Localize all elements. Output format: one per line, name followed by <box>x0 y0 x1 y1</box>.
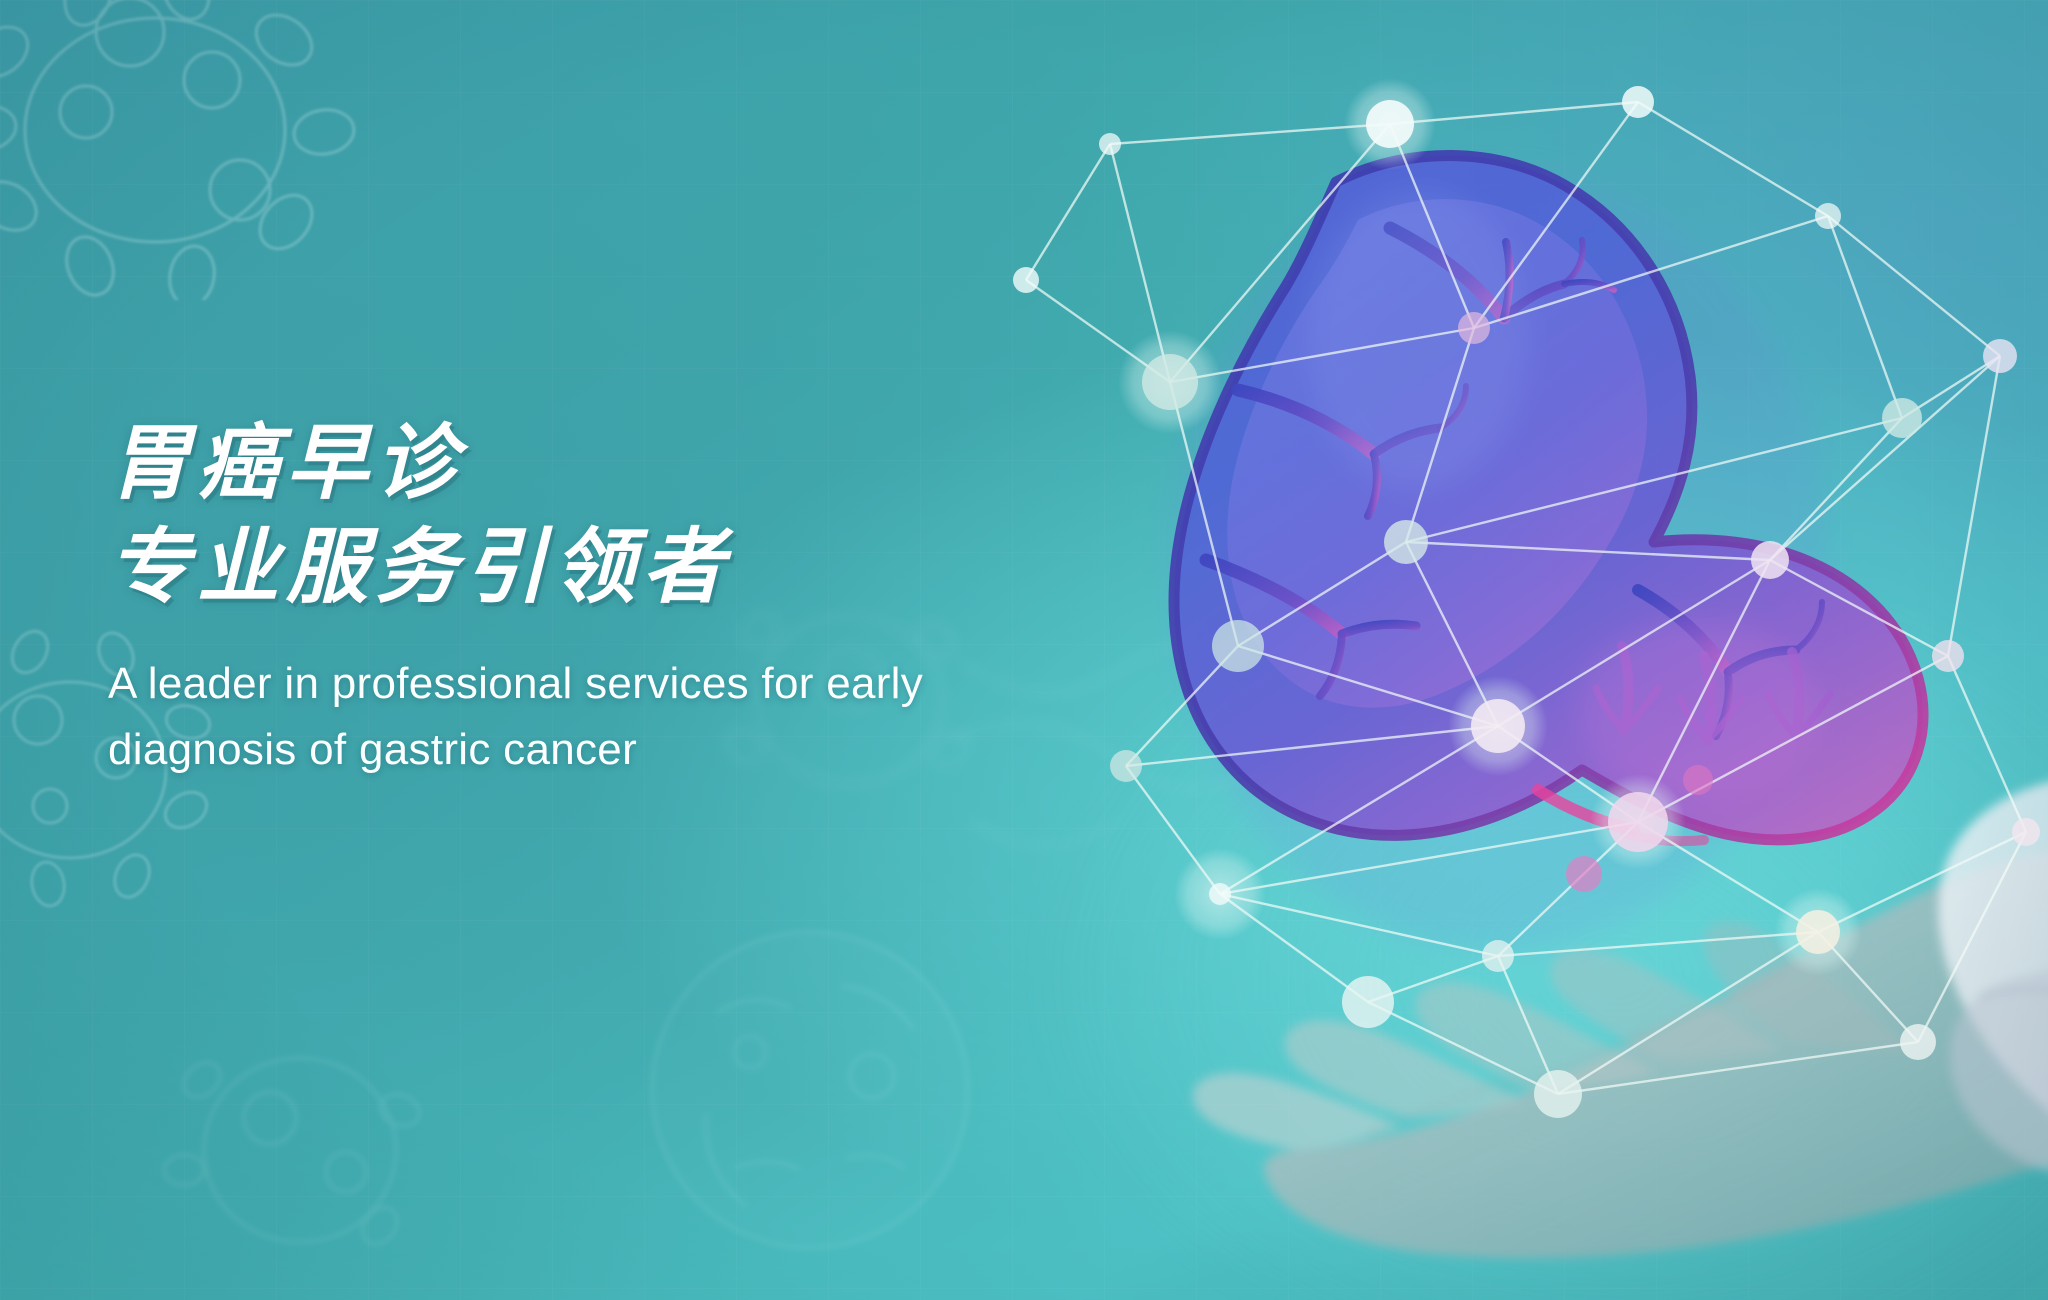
hero-copy: 胃癌早诊 专业服务引领者 A leader in professional se… <box>108 415 1108 783</box>
headline-line-1: 胃癌早诊 <box>108 415 1108 513</box>
hero-banner: 胃癌早诊 专业服务引领者 A leader in professional se… <box>0 0 2048 1300</box>
lab-coat-cuff <box>1938 780 2048 1300</box>
subtitle: A leader in professional services for ea… <box>108 651 1108 783</box>
subtitle-line-2: diagnosis of gastric cancer <box>108 717 1108 783</box>
stomach-illustration <box>1168 155 1923 950</box>
subtitle-line-1: A leader in professional services for ea… <box>108 651 1108 717</box>
headline-line-2: 专业服务引领者 <box>108 519 1108 617</box>
